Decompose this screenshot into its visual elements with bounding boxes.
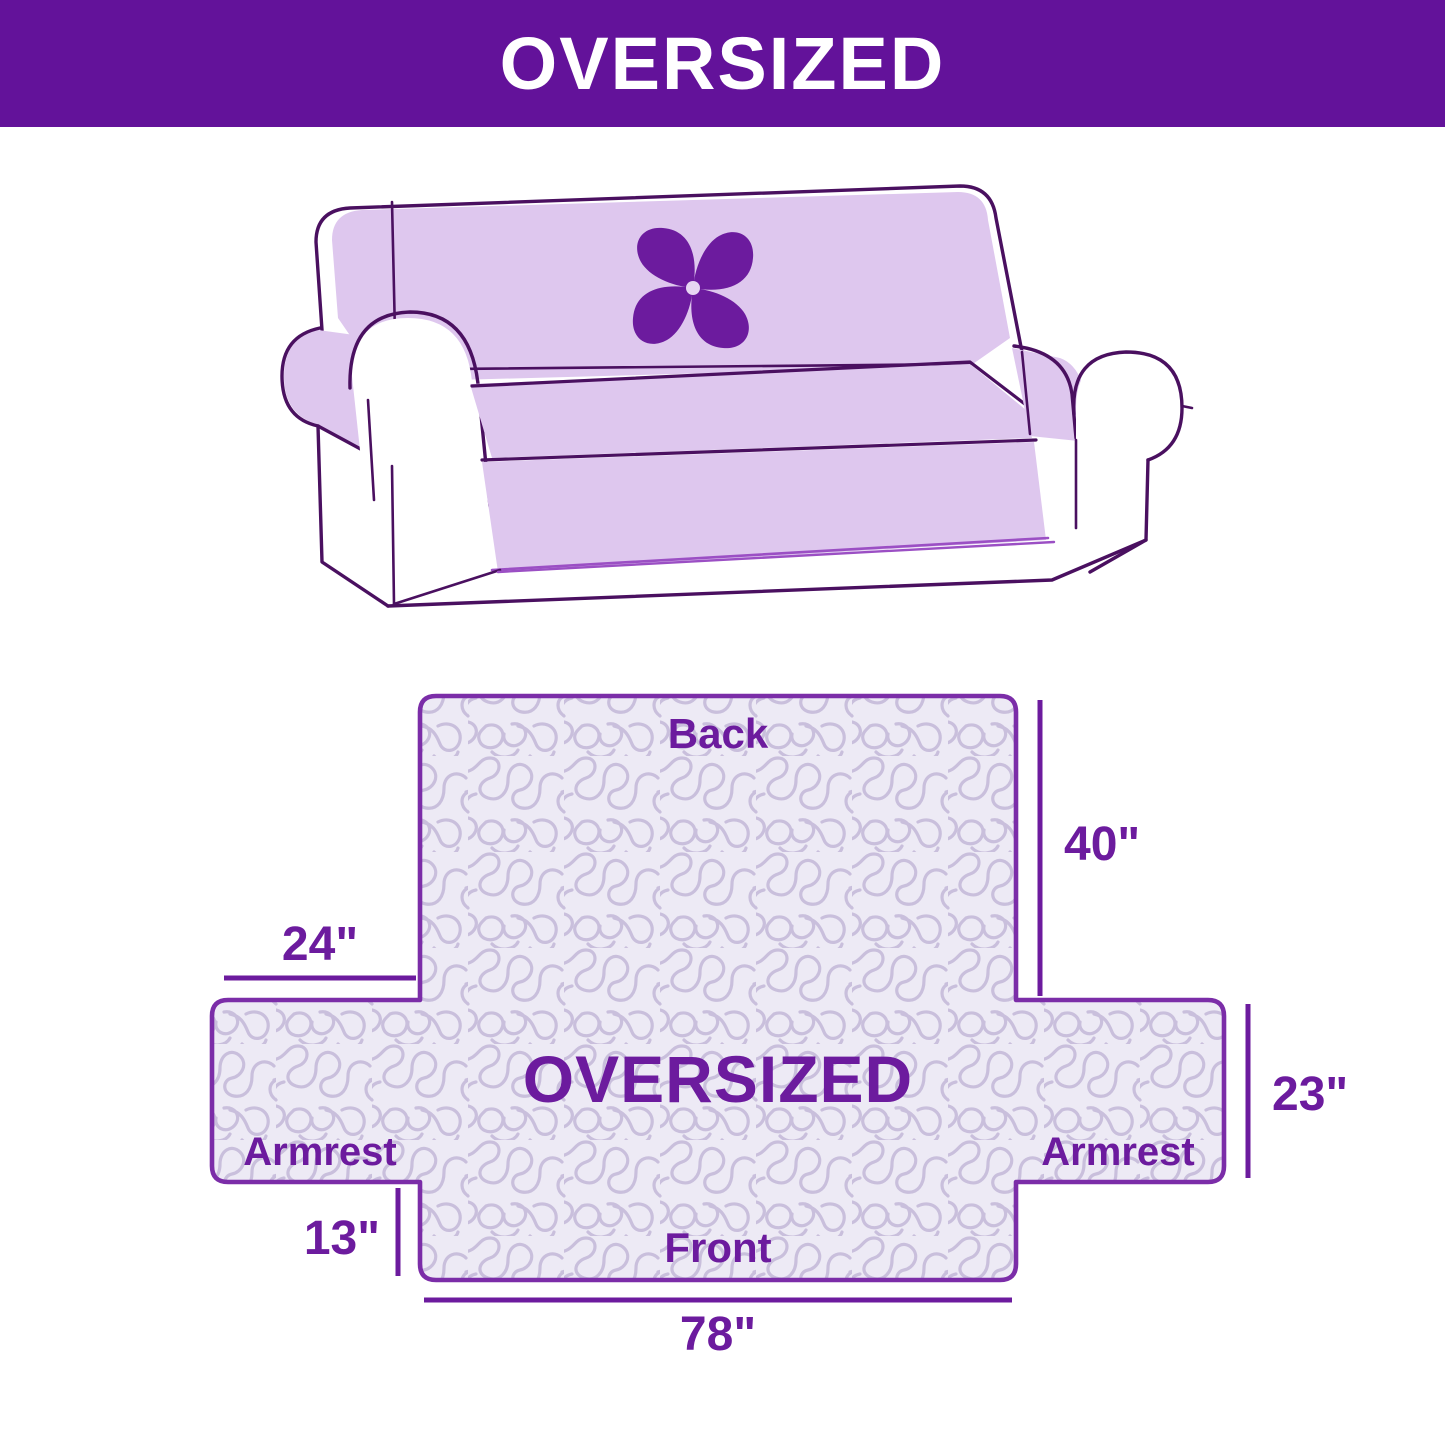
product-diagram-page: OVERSIZED — [0, 0, 1445, 1445]
pattern-shape-group — [212, 696, 1224, 1280]
sofa-illustration — [270, 170, 1200, 630]
dimension-label-23: 23" — [1272, 1068, 1348, 1121]
sofa-right-arm-roll-fill — [1076, 356, 1178, 526]
dimension-label-78: 78" — [680, 1308, 756, 1360]
sofa-line-art-svg — [270, 170, 1200, 630]
slipcover-outline — [212, 696, 1224, 1280]
header-banner: OVERSIZED — [0, 0, 1445, 127]
dimension-label-13: 13" — [304, 1212, 380, 1265]
sofa-base-left-corner — [394, 570, 500, 604]
banner-title: OVERSIZED — [500, 27, 946, 101]
panel-label-back: Back — [668, 710, 769, 757]
panel-label-armrest-right: Armrest — [1041, 1130, 1194, 1174]
flat-pattern-svg: 40" 23" 24" 13" 78" Back Front Armrest A… — [180, 660, 1360, 1360]
dimension-label-24: 24" — [282, 918, 358, 971]
panel-label-armrest-left: Armrest — [243, 1130, 396, 1174]
dimension-label-40: 40" — [1064, 818, 1140, 871]
flat-pattern-diagram: 40" 23" 24" 13" 78" Back Front Armrest A… — [180, 660, 1360, 1360]
sofa-seat-lower-fill — [482, 442, 1046, 572]
pinwheel-logo-center — [686, 281, 700, 295]
panel-label-front: Front — [664, 1224, 771, 1271]
pattern-center-title: OVERSIZED — [523, 1042, 913, 1116]
